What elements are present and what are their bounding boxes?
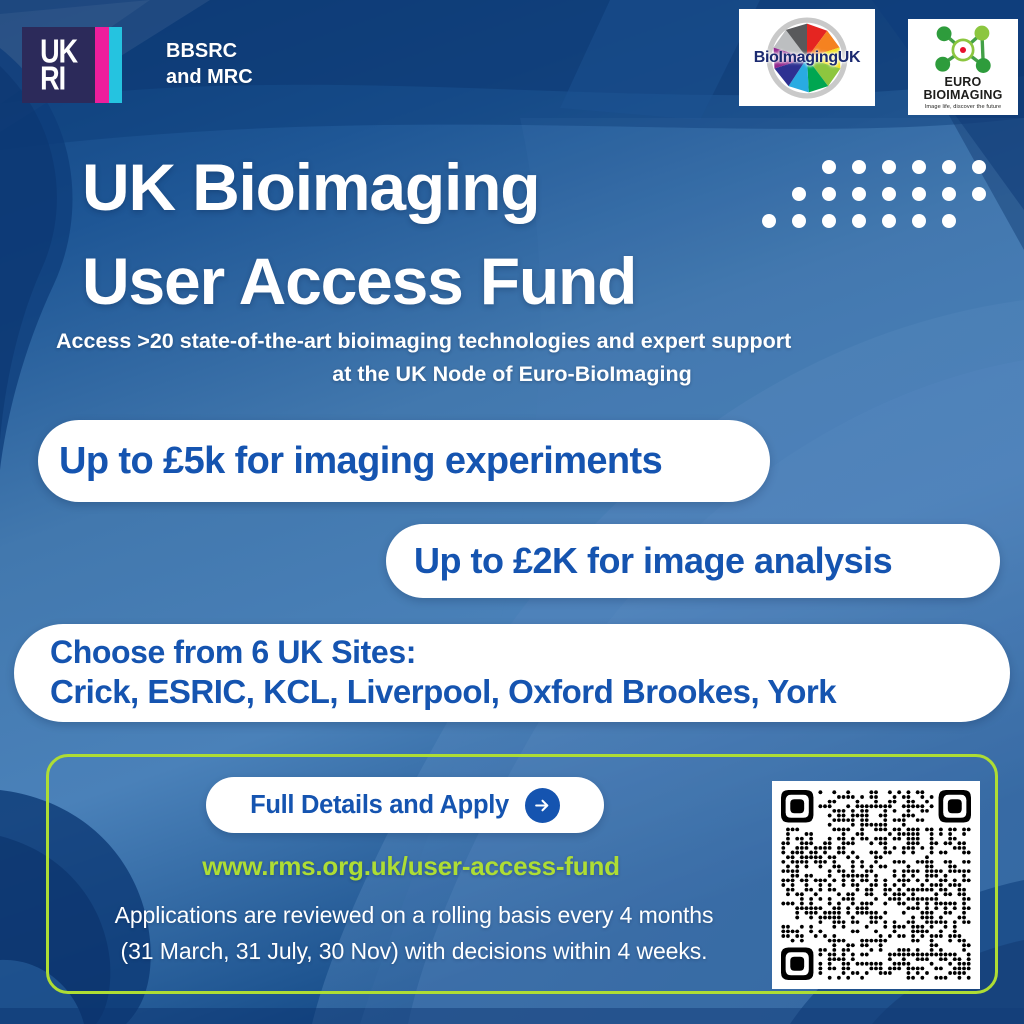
council-line2: and MRC (166, 65, 253, 91)
ukri-logo-mark: UK RI (22, 27, 122, 103)
ukri-stripe-magenta (95, 27, 109, 103)
subtitle-line-1: Access >20 state-of-the-art bioimaging t… (52, 325, 972, 358)
dot (942, 214, 956, 228)
full-details-and-apply-button[interactable]: Full Details and Apply (206, 777, 604, 833)
ukri-lockup: UK RI BBSRC and MRC (22, 27, 253, 103)
qr-code-canvas (781, 790, 971, 980)
dot (882, 214, 896, 228)
sites-heading: Choose from 6 UK Sites: (50, 633, 416, 672)
dot (972, 160, 986, 174)
dot (912, 160, 926, 174)
page-title: UK Bioimaging User Access Fund (82, 141, 842, 328)
offer-pill-imaging-experiments: Up to £5k for imaging experiments (38, 420, 770, 502)
dot-row (822, 160, 1002, 187)
council-line1: BBSRC (166, 39, 253, 65)
dot (942, 160, 956, 174)
dot (912, 187, 926, 201)
offer-pill-image-analysis: Up to £2K for image analysis (386, 524, 1000, 598)
bioimaginguk-logo: BioImagingUK (739, 9, 875, 106)
arrow-right-glyph (533, 796, 552, 815)
note-line-1: Applications are reviewed on a rolling b… (57, 897, 771, 933)
dot (912, 214, 926, 228)
euro-bioimaging-inner: EURO BIOIMAGING Image life, discover the… (911, 22, 1015, 112)
application-url[interactable]: www.rms.org.uk/user-access-fund (61, 851, 761, 882)
dot (882, 160, 896, 174)
euro-bioimaging-logo: EURO BIOIMAGING Image life, discover the… (908, 19, 1018, 115)
subtitle-line-2: at the UK Node of Euro-BioImaging (52, 358, 972, 391)
title-line-1: UK Bioimaging (82, 150, 539, 224)
dot (852, 160, 866, 174)
dot (852, 214, 866, 228)
euro-bioimaging-title: EURO BIOIMAGING (923, 76, 1002, 102)
header: UK RI BBSRC and MRC (0, 0, 1024, 130)
arrow-right-icon (525, 788, 560, 823)
ukri-logo-letters: UK RI (40, 38, 77, 92)
dot (852, 187, 866, 201)
sites-pill: Choose from 6 UK Sites: Crick, ESRIC, KC… (14, 624, 1010, 722)
ukri-stripe-cyan (109, 27, 122, 103)
note-line-2: (31 March, 31 July, 30 Nov) with decisio… (57, 933, 771, 969)
ukri-councils: BBSRC and MRC (166, 39, 253, 90)
aperture-icon: BioImagingUK (743, 13, 871, 102)
ebi-title-line2: BIOIMAGING (923, 89, 1002, 102)
euro-bioimaging-tagline: Image life, discover the future (925, 104, 1001, 110)
molecule-icon (929, 25, 997, 75)
offer-text: Up to £2K for image analysis (414, 540, 892, 582)
poster: UK RI BBSRC and MRC (0, 0, 1024, 1024)
dot (882, 187, 896, 201)
qr-code[interactable] (772, 781, 980, 989)
sites-list: Crick, ESRIC, KCL, Liverpool, Oxford Bro… (50, 672, 836, 712)
ukri-logo-box: UK RI (22, 27, 95, 103)
bioimaginguk-label: BioImagingUK (754, 49, 861, 67)
cta-button-label: Full Details and Apply (250, 791, 509, 820)
title-line-2: User Access Fund (82, 235, 842, 329)
dot (972, 187, 986, 201)
subtitle: Access >20 state-of-the-art bioimaging t… (52, 325, 972, 392)
application-note: Applications are reviewed on a rolling b… (57, 897, 771, 970)
offer-text: Up to £5k for imaging experiments (59, 440, 662, 483)
dot (942, 187, 956, 201)
